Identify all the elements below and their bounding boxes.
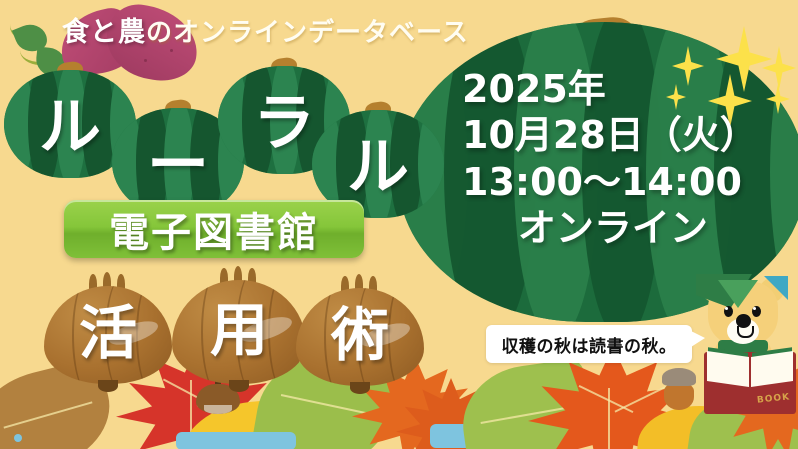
library-banner[interactable]: 電子図書館	[64, 200, 364, 258]
headline-rest: のオンラインデータベース	[146, 12, 469, 49]
title-onion: 術	[296, 274, 424, 386]
acorn-icon	[662, 368, 696, 410]
bear-eye	[724, 306, 733, 317]
event-poster: 2025年 10月28日（火） 13:00〜14:00 オンライン 食と農 のオ…	[0, 0, 798, 449]
event-year: 2025年	[462, 66, 758, 112]
library-banner-label: 電子図書館	[109, 200, 319, 258]
event-date: 10月28日（火）	[462, 112, 758, 158]
bear-mouth	[737, 326, 754, 338]
title-onion: 活	[44, 272, 172, 384]
sparkle-icon	[766, 84, 790, 114]
speech-bubble-text: 収穫の秋は読書の秋。	[502, 332, 677, 357]
water-accent	[176, 432, 296, 449]
title-char: 活	[44, 272, 172, 384]
title-char: 術	[296, 274, 424, 386]
open-book-icon: BOOK	[704, 352, 796, 414]
event-time: 13:00〜14:00	[462, 159, 758, 205]
event-details: 2025年 10月28日（火） 13:00〜14:00 オンライン	[462, 66, 758, 251]
headline: 食と農 のオンラインデータベース	[62, 10, 469, 49]
bear-eye	[752, 306, 761, 317]
water-dot	[14, 434, 22, 442]
title-char: 用	[172, 266, 306, 384]
title-onion: 用	[172, 266, 306, 384]
speech-bubble: 収穫の秋は読書の秋。	[486, 325, 692, 363]
headline-badge: 食と農	[62, 10, 146, 49]
event-venue: オンライン	[462, 205, 758, 251]
